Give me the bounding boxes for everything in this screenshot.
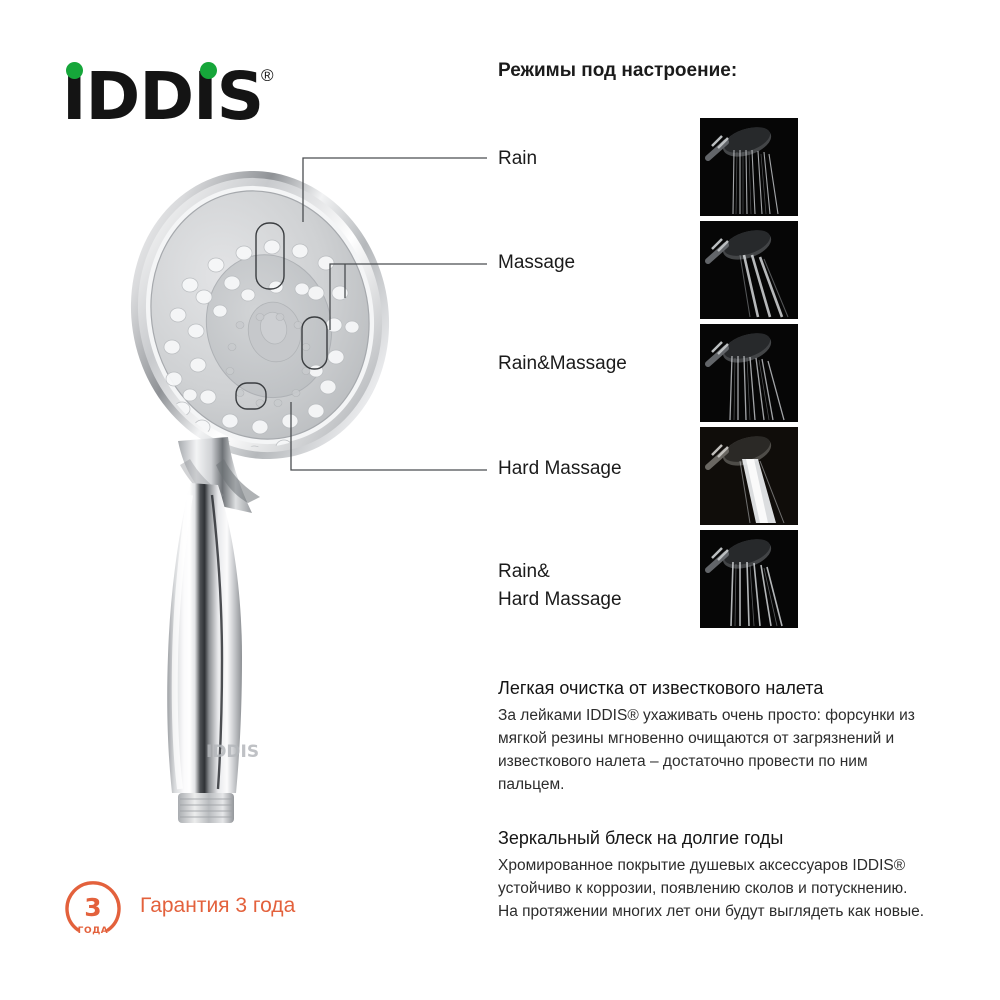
feature-body: Хромированное покрытие душевых аксессуар… [498,854,928,923]
logo-green-dot-icon [66,62,83,79]
brand-logo: IDDIS ® [62,58,292,138]
mode-thumbnail-rain-hard-massage [700,530,798,628]
infographic-page: IDDIS ® [0,0,1000,1000]
mode-label-rain-hard-massage: Rain& Hard Massage [498,558,622,614]
logo-green-dot-icon [200,62,217,79]
feature-title: Легкая очистка от известкового налета [498,676,928,700]
mode-label-rain-massage: Rain&Massage [498,350,627,378]
registered-trademark-icon: ® [261,66,274,86]
feature-block-chrome: Зеркальный блеск на долгие годы Хромиров… [498,826,928,923]
mode-label-massage: Massage [498,249,575,277]
warranty-unit: ГОДА [78,926,109,936]
feature-body: За лейками IDDIS® ухаживать очень просто… [498,704,928,796]
mode-thumbnail-hard-massage [700,427,798,525]
warranty-text: Гарантия 3 года [140,894,295,918]
mode-thumbnail-massage [700,221,798,319]
mode-label-rain: Rain [498,145,537,173]
warranty-badge-icon: 3 ГОДА [62,878,124,940]
modes-header: Режимы под настроение: [498,60,737,82]
feature-title: Зеркальный блеск на долгие годы [498,826,928,850]
warranty-block: 3 ГОДА Гарантия 3 года [62,878,382,948]
threaded-connector [178,793,234,823]
mode-label-hard-massage: Hard Massage [498,455,622,483]
mode-thumbnail-rain-massage [700,324,798,422]
brand-logo-text: IDDIS [62,64,263,130]
shower-head-illustration: IDDIS [120,165,450,830]
feature-block-limescale: Легкая очистка от известкового налета За… [498,676,928,796]
warranty-number: 3 [84,893,101,922]
handle-engraving: IDDIS [206,742,259,762]
mode-thumbnail-rain [700,118,798,216]
